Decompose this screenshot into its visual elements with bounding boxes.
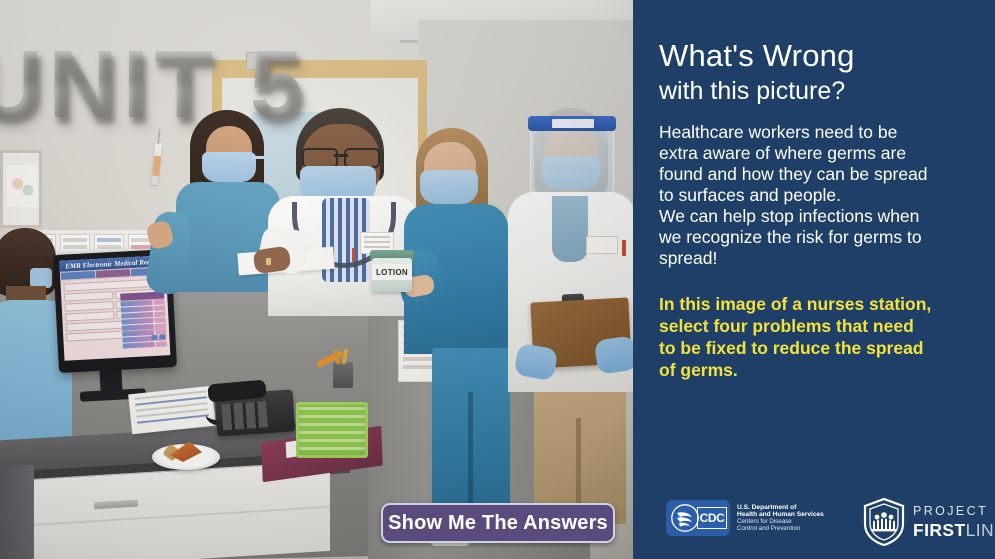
green-supply-basket [296,402,368,458]
cdc-wordmark: CDC [697,507,727,529]
project-firstline-logo: PROJECT FIRSTLINE [863,498,995,546]
desk-cabinet-side [0,465,34,559]
shield-icon [863,498,905,546]
pfl-word-first: FIRST [913,520,966,540]
cdc-mark: CDC [666,500,730,536]
show-me-the-answers-button[interactable]: Show Me The Answers [381,503,615,543]
cdc-agency-text: U.S. Department of Health and Human Serv… [737,504,824,532]
phone-keypad [221,401,269,430]
nurse-left-face-mask [202,152,256,182]
cdc-line1: U.S. Department of [737,504,824,511]
pen-cup [333,362,353,388]
framed-wall-art [0,150,42,228]
doctor-pocket-pen [352,248,355,262]
pfl-word-line: LINE [966,520,995,540]
project-firstline-wordmark: PROJECT FIRSTLINE [913,504,995,541]
doctor-ring [266,258,271,265]
lotion-jar-label: LOTION [372,264,412,280]
eyeglasses-bridge [334,154,348,157]
cdc-line4: Control and Prevention [737,525,824,532]
cdc-logo: CDC U.S. Department of Health and Human … [666,500,824,536]
face-shield-band-label [552,119,594,128]
monitor-stand [99,367,122,394]
cdc-line2: Health and Human Services [737,511,824,518]
page-title-line1: What's Wrong [659,38,855,74]
task-instruction-text: In this image of a nurses station, selec… [659,293,984,381]
drawer-handle[interactable] [94,500,138,510]
slide-root: W UNIT 5 [0,0,995,559]
cdc-line3: Centers for Disease [737,518,824,525]
shield-worker-id-badge [586,236,618,254]
pfl-word-project: PROJECT [913,504,995,518]
unit-5-wall-sign: UNIT 5 [0,30,308,140]
intro-body-text: Healthcare workers need to be extra awar… [659,122,979,269]
emr-results-panel [120,291,167,349]
nurse-center-face-mask [420,170,478,204]
shield-worker-scrub-top [552,196,588,262]
info-panel: What's Wrong with this picture? Healthca… [633,0,995,559]
shield-worker-pocket-pen [622,240,626,256]
page-title-line2: with this picture? [659,77,845,106]
emr-pager [151,334,165,340]
gloved-hand-right [594,335,633,374]
seated-worker-mask [30,268,52,288]
hhs-swoosh-icon [670,503,700,533]
scene-photo: W UNIT 5 [0,0,633,559]
